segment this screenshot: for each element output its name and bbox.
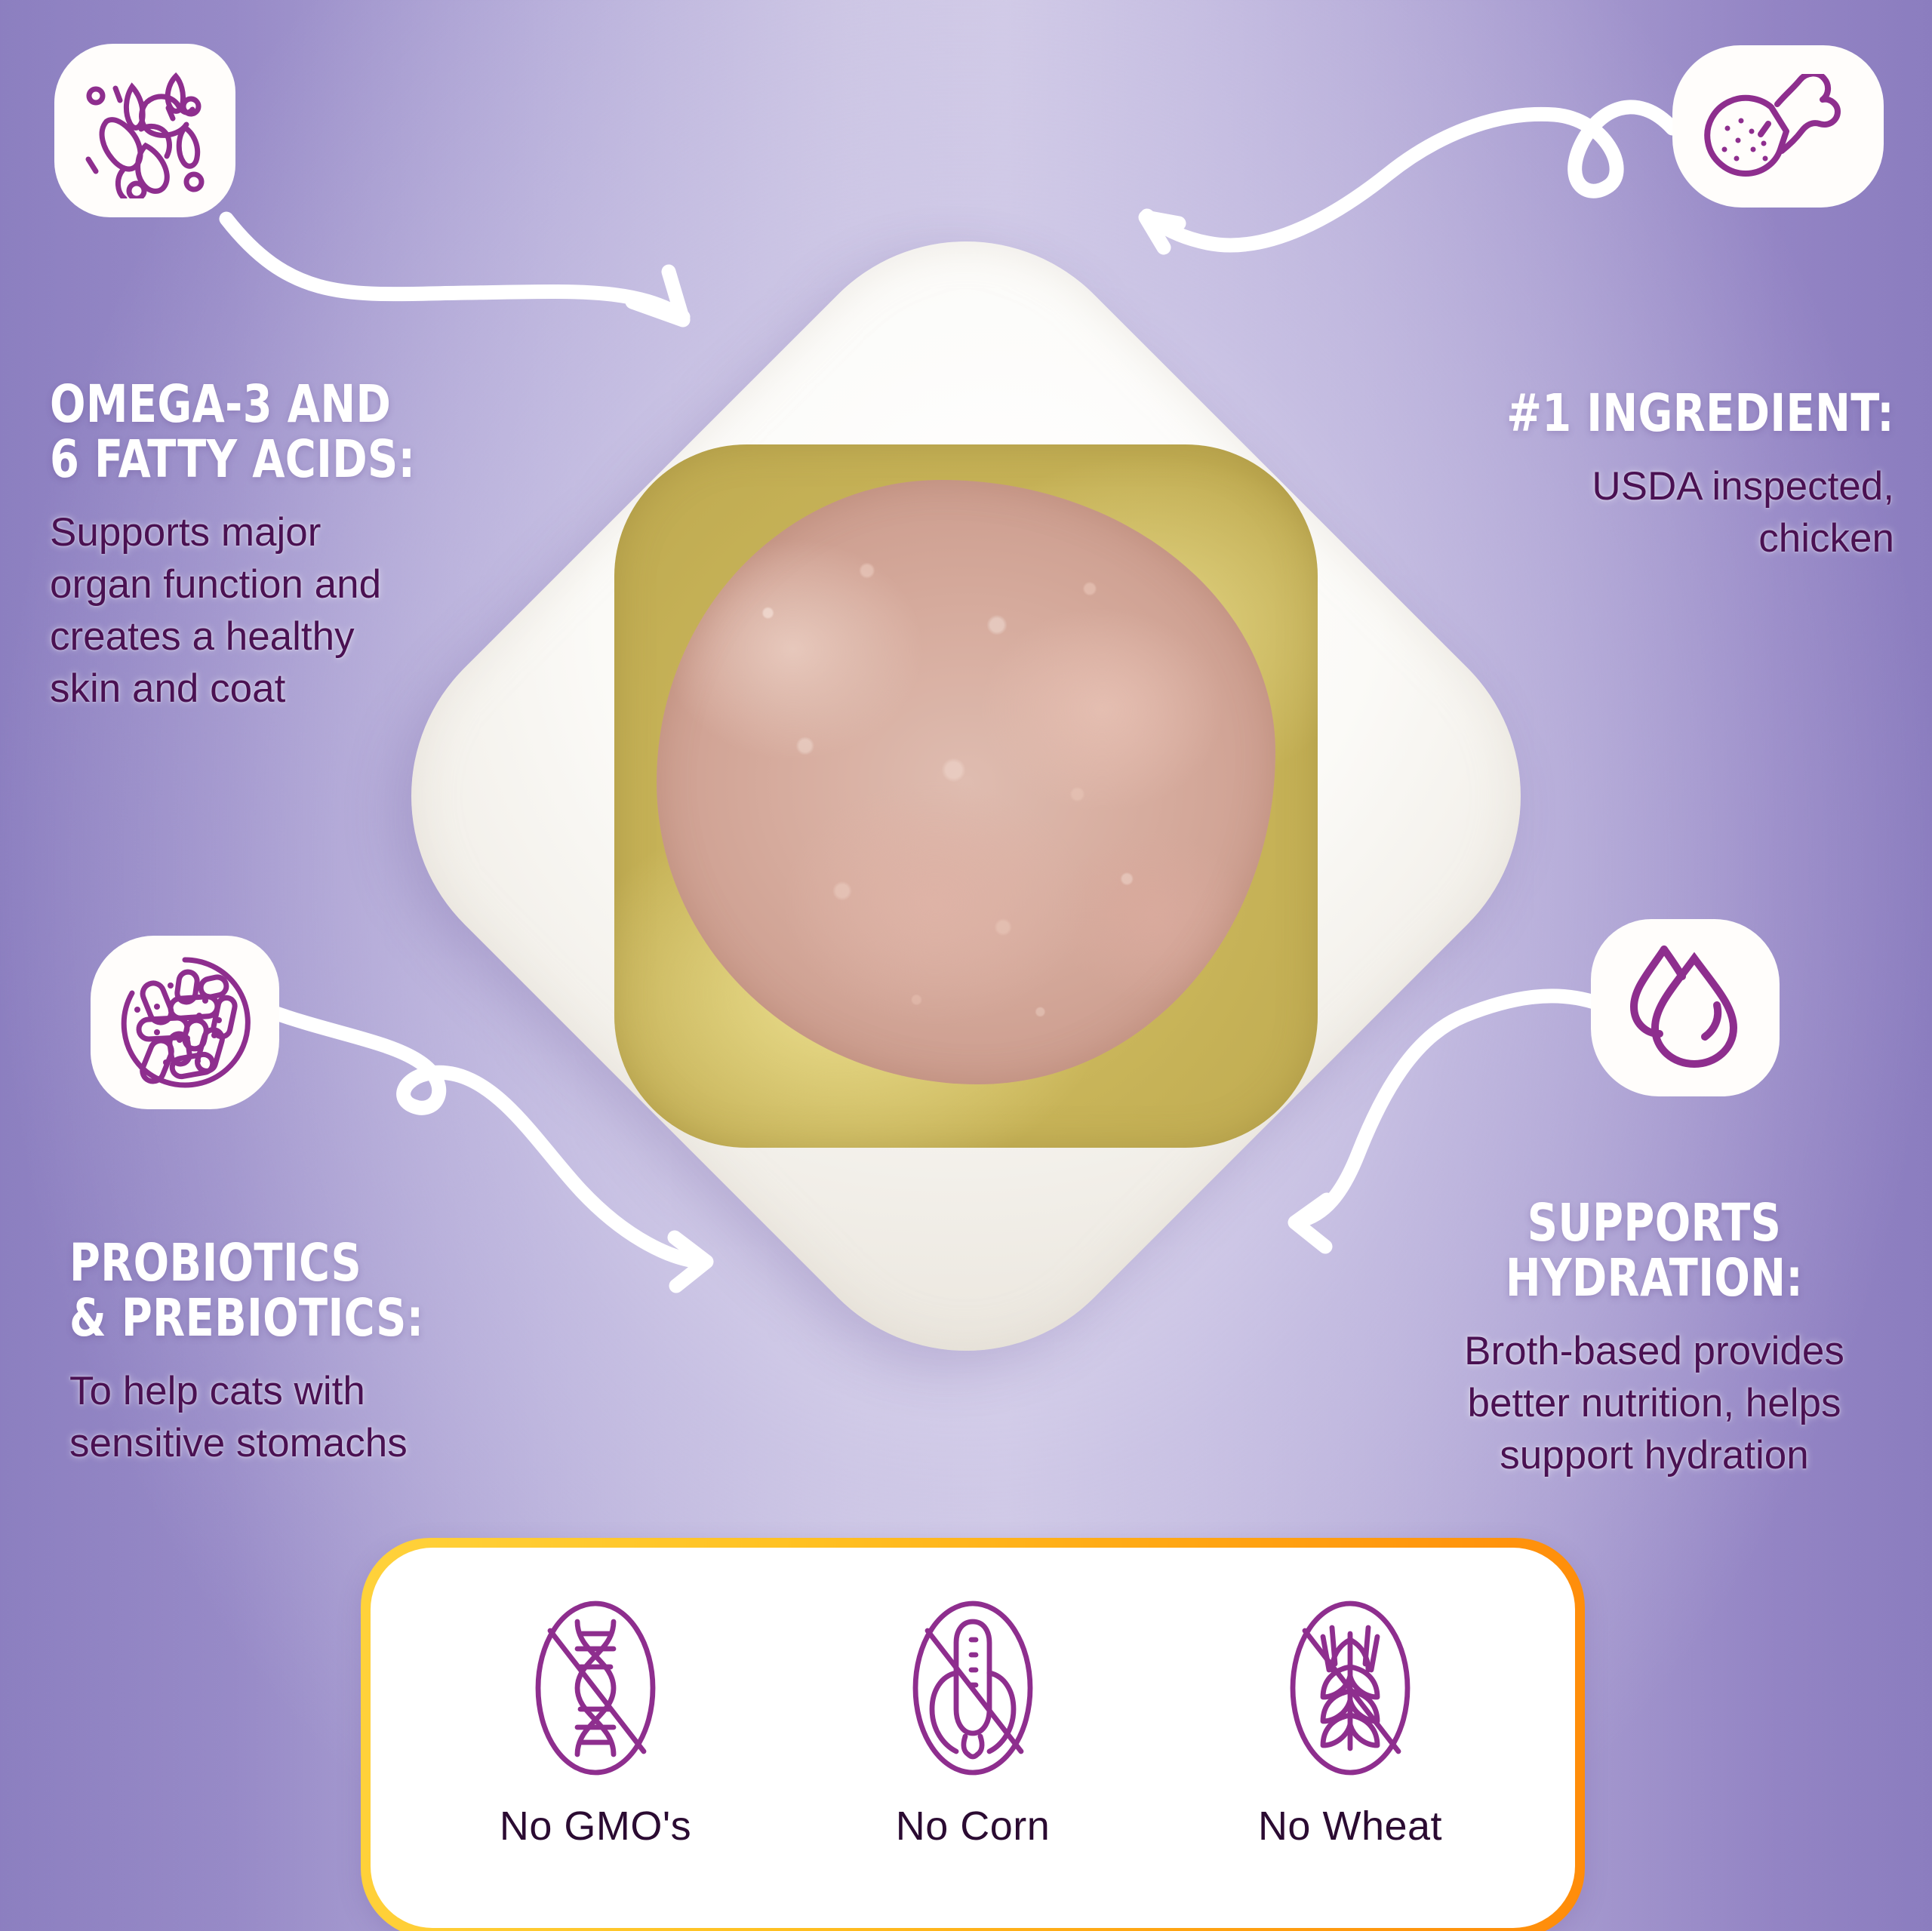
- feature-heading-hydration: SUPPORTS HYDRATION:: [1430, 1196, 1878, 1306]
- bowl-interior-broth: [614, 444, 1318, 1148]
- claim-no-gmo: No GMO's: [467, 1594, 724, 1850]
- claims-panel: No GMO's No Corn: [361, 1538, 1585, 1931]
- petri-dish-bacteria-icon: [91, 936, 279, 1109]
- arrow-head-probiotics: [675, 1238, 706, 1286]
- feature-body-hydration: Broth-based provides better nutrition, h…: [1405, 1326, 1903, 1482]
- hero-food-photo: [521, 351, 1411, 1241]
- feature-heading-ingredient: #1 INGREDIENT:: [1453, 386, 1894, 441]
- no-wheat-icon: [1260, 1594, 1441, 1783]
- claim-label-no-wheat: No Wheat: [1258, 1803, 1442, 1850]
- claim-no-corn: No Corn: [844, 1594, 1101, 1850]
- claim-label-no-corn: No Corn: [896, 1803, 1051, 1850]
- feature-body-omega: Supports major organ function and create…: [50, 507, 533, 715]
- arrow-path-ingredient: [1147, 107, 1672, 245]
- arrow-head-ingredient: [1146, 217, 1179, 248]
- feature-heading-omega: OMEGA-3 AND 6 FATTY ACIDS:: [50, 377, 485, 487]
- feature-block-probiotics: PROBIOTICS & PREBIOTICS: To help cats wi…: [69, 1236, 560, 1470]
- claim-label-no-gmo: No GMO's: [500, 1803, 691, 1850]
- no-corn-icon: [882, 1594, 1063, 1783]
- feature-body-probiotics: To help cats with sensitive stomachs: [69, 1366, 560, 1470]
- arrow-head-omega: [632, 272, 683, 320]
- claim-no-wheat: No Wheat: [1222, 1594, 1478, 1850]
- chicken-drumstick-icon: [1672, 45, 1884, 208]
- feature-block-omega: OMEGA-3 AND 6 FATTY ACIDS: Supports majo…: [50, 377, 533, 715]
- no-gmo-dna-icon: [505, 1594, 686, 1783]
- feature-heading-probiotics: PROBIOTICS & PREBIOTICS:: [69, 1236, 511, 1346]
- feature-block-hydration: SUPPORTS HYDRATION: Broth-based provides…: [1405, 1196, 1903, 1482]
- fatty-acid-molecules-icon: [54, 44, 235, 217]
- feature-block-ingredient: #1 INGREDIENT: USDA inspected, chicken: [1404, 386, 1894, 565]
- arrow-path-omega: [226, 219, 683, 317]
- water-droplets-icon: [1591, 919, 1780, 1096]
- feature-body-ingredient: USDA inspected, chicken: [1404, 461, 1894, 565]
